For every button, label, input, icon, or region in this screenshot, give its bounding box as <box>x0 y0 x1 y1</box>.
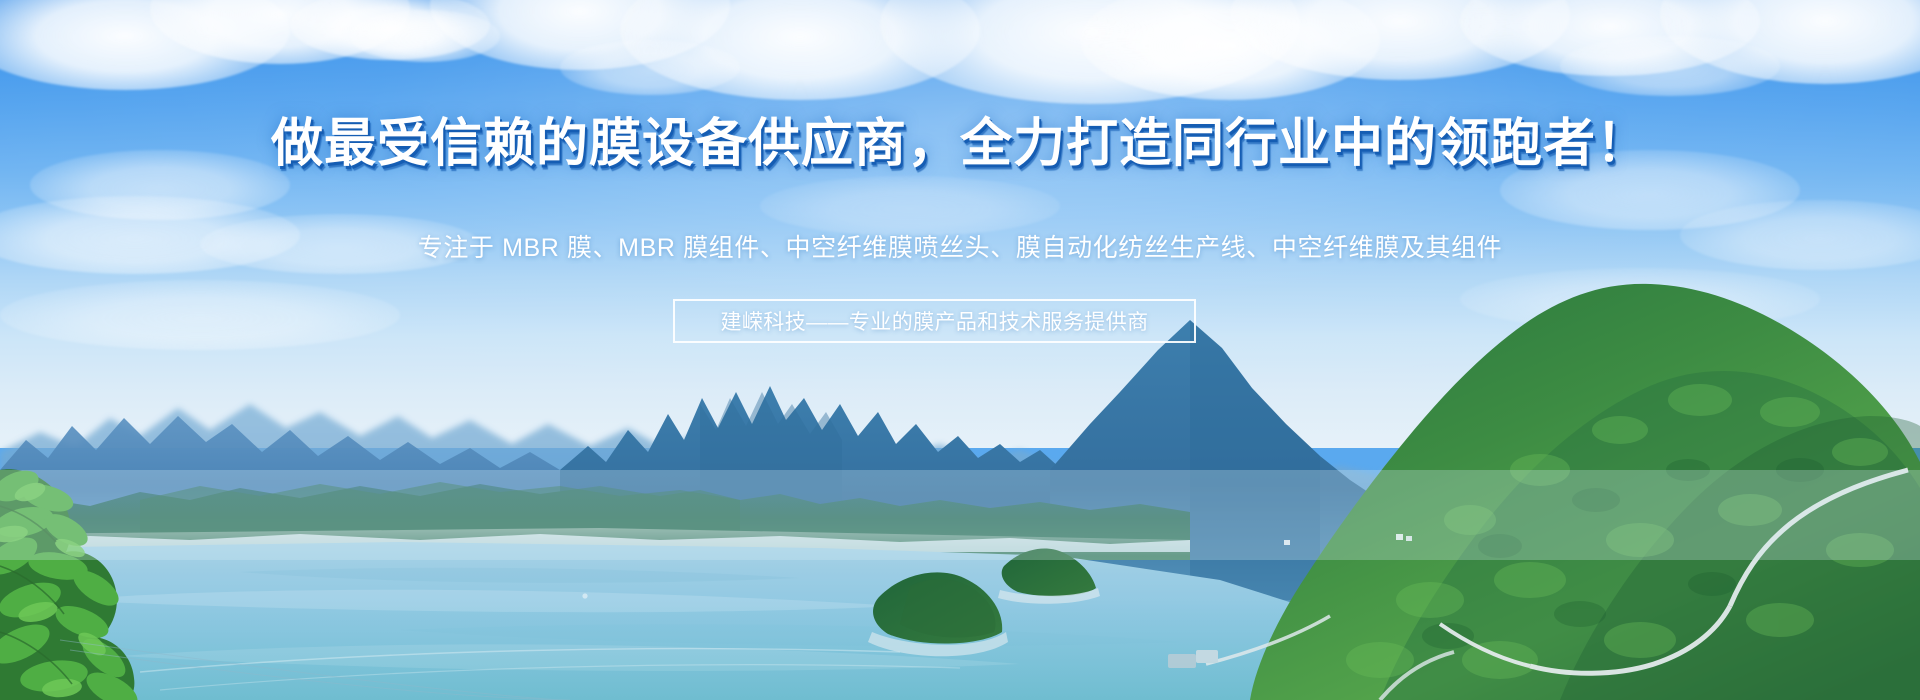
horizon-haze <box>0 470 1920 560</box>
landscape-scene <box>0 0 1920 700</box>
banner-subheadline: 专注于 MBR 膜、MBR 膜组件、中空纤维膜喷丝头、膜自动化纺丝生产线、中空纤… <box>0 228 1920 264</box>
tagline-text: 建嵘科技——专业的膜产品和技术服务提供商 <box>721 306 1149 336</box>
tagline-box: 建嵘科技——专业的膜产品和技术服务提供商 <box>673 299 1196 343</box>
hero-banner: 做最受信赖的膜设备供应商，全力打造同行业中的领跑者！ 专注于 MBR 膜、MBR… <box>0 0 1920 700</box>
banner-headline: 做最受信赖的膜设备供应商，全力打造同行业中的领跑者！ <box>0 116 1920 172</box>
